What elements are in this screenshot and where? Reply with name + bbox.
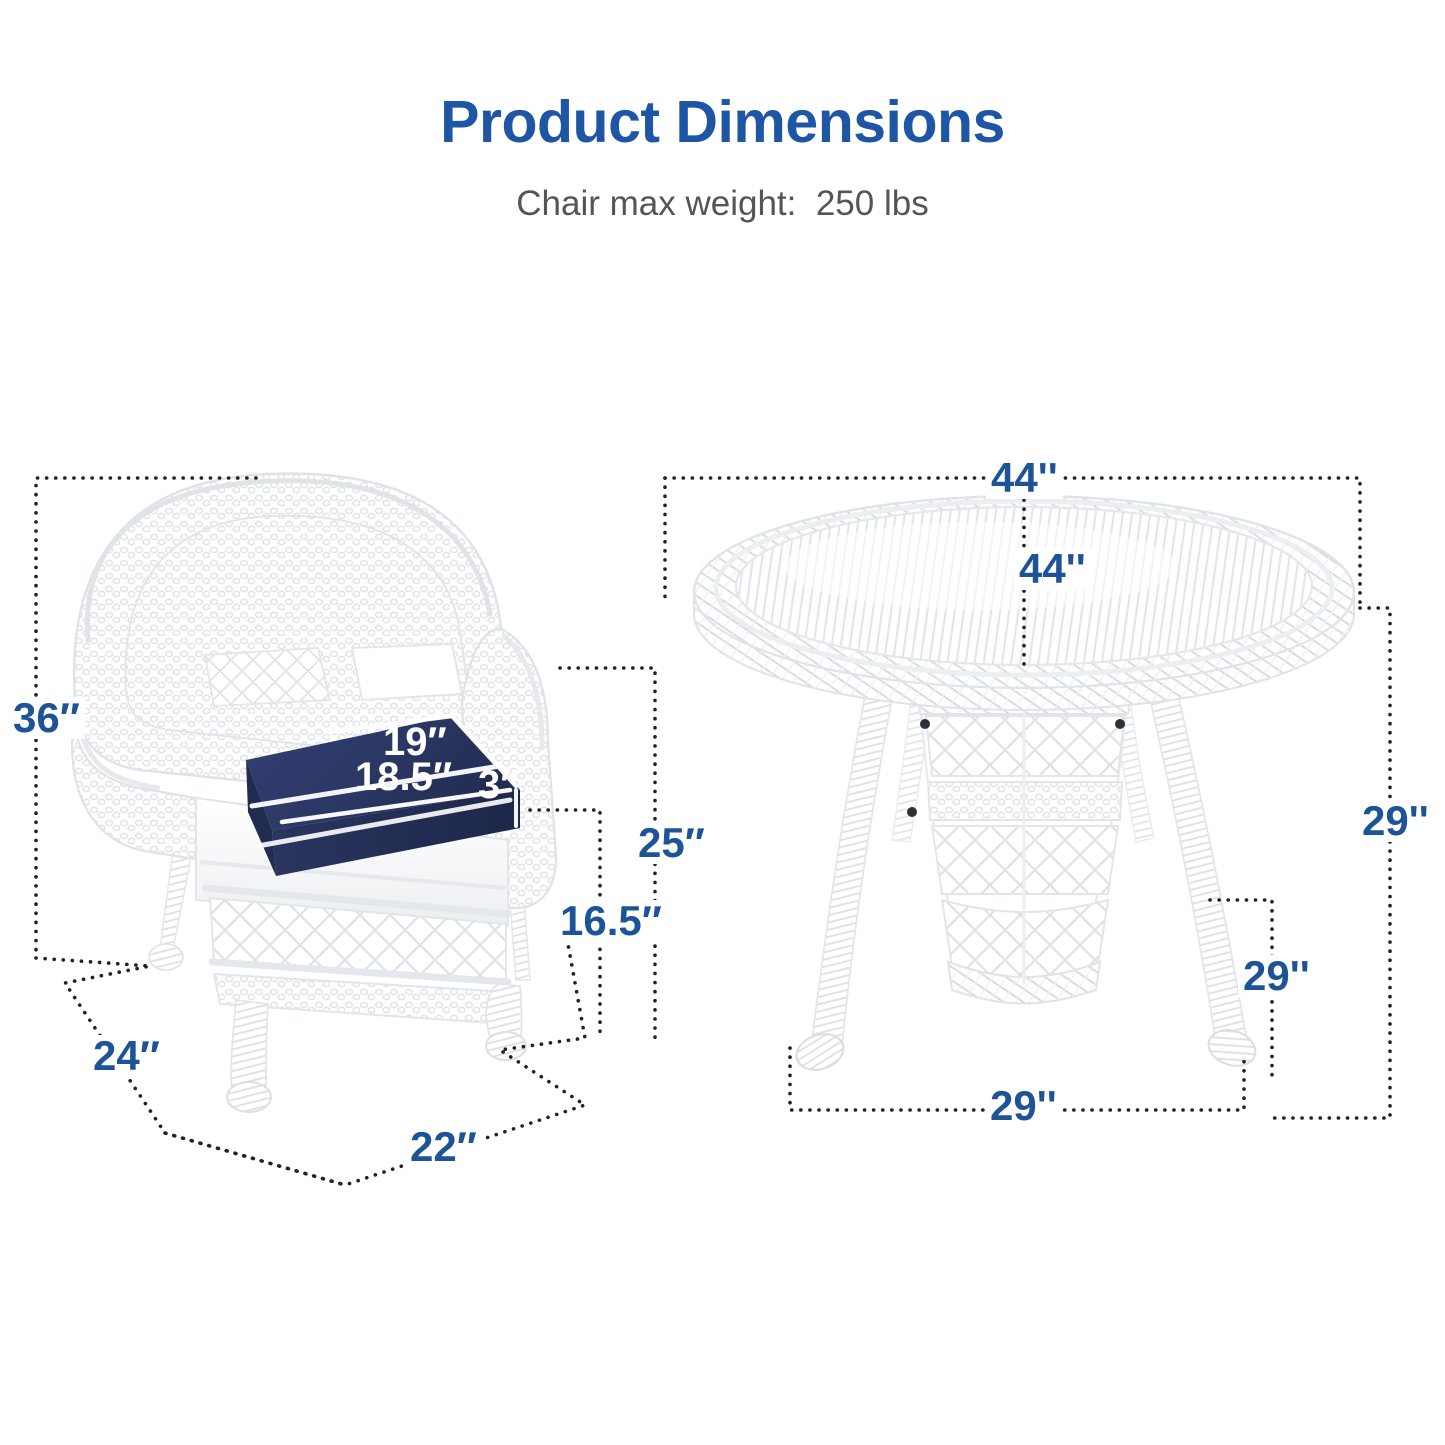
chair-dim-height: 36″: [8, 697, 85, 739]
dimension-diagram: Product Dimensions Chair max weight: 250…: [0, 0, 1445, 1445]
table-dim-table-height: 29'': [1357, 800, 1434, 842]
furniture-illustration: [0, 0, 1445, 1445]
table-dim-top-diameter-vertical: 44'': [1014, 548, 1091, 590]
table-dim-base-height: 29'': [1238, 955, 1315, 997]
chair-dim-arm-height: 25″: [633, 822, 710, 864]
chair-dim-cushion-thickness: 3″: [478, 765, 519, 805]
chair-dim-footprint-width: 22″: [405, 1126, 482, 1168]
chair-dim-cushion-depth: 18.5″: [355, 757, 452, 797]
chair-dim-seat-height: 16.5″: [555, 900, 667, 942]
chair-dim-footprint-depth: 24″: [88, 1035, 165, 1077]
table-dim-top-diameter: 44'': [986, 457, 1063, 499]
guide-table-height: [1272, 608, 1390, 1118]
table-dim-base-span: 29'': [985, 1085, 1062, 1127]
